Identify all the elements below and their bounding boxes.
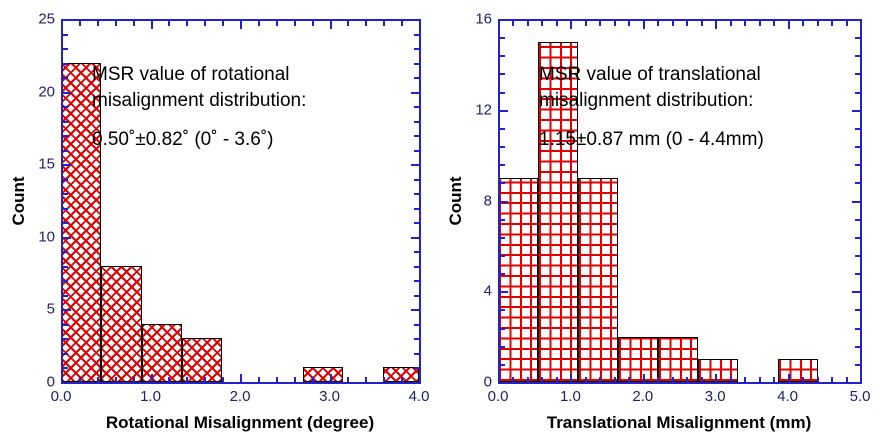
y-axis-minor-tick (62, 48, 68, 50)
histogram-bar (658, 337, 698, 382)
y-axis-minor-tick (499, 73, 505, 75)
x-axis-minor-tick-top (773, 20, 775, 26)
x-axis-minor-tick (383, 377, 385, 383)
x-axis-minor-tick-top (97, 20, 99, 26)
y-axis-minor-tick (62, 77, 68, 79)
x-axis-minor-tick (672, 377, 674, 383)
histogram-bar (778, 359, 818, 382)
x-axis-minor-tick (556, 377, 558, 383)
y-axis-major-tick (62, 237, 71, 239)
x-axis-minor-tick (744, 377, 746, 383)
y-axis-major-tick-right (852, 19, 861, 21)
x-axis-minor-tick-top (383, 20, 385, 26)
annotation-line-1: MSR value of translational (539, 62, 764, 88)
x-axis-major-tick (788, 374, 790, 383)
y-axis-title-translational: Count (446, 176, 466, 225)
y-axis-minor-tick (62, 179, 68, 181)
y-axis-minor-tick-right (414, 353, 420, 355)
histogram-bar (498, 178, 538, 382)
x-axis-minor-tick-top (628, 20, 630, 26)
y-axis-major-tick-right (852, 110, 861, 112)
y-axis-minor-tick (499, 92, 505, 94)
y-axis-minor-tick-right (414, 106, 420, 108)
x-axis-minor-tick (512, 377, 514, 383)
y-axis-minor-tick-right (855, 128, 861, 130)
y-axis-minor-tick-right (855, 219, 861, 221)
x-axis-major-tick-top (240, 20, 242, 29)
x-axis-minor-tick (657, 377, 659, 383)
x-axis-minor-tick-top (701, 20, 703, 26)
y-axis-minor-tick-right (855, 146, 861, 148)
y-axis-major-tick (62, 92, 71, 94)
y-axis-minor-tick-right (414, 251, 420, 253)
x-axis-major-tick (570, 374, 572, 383)
y-axis-minor-tick-right (414, 179, 420, 181)
y-axis-minor-tick-right (855, 92, 861, 94)
x-axis-minor-tick (817, 377, 819, 383)
y-axis-tick-label: 12 (456, 102, 492, 117)
x-axis-minor-tick-top (347, 20, 349, 26)
x-axis-tick-label: 4.0 (777, 389, 798, 404)
x-axis-minor-tick-top (686, 20, 688, 26)
x-axis-line-bottom (498, 382, 862, 384)
x-axis-title-rotational: Rotational Misalignment (degree) (106, 413, 374, 433)
y-axis-major-tick-right (852, 291, 861, 293)
y-axis-tick-label: 20 (19, 84, 55, 99)
x-axis-tick-label: 0.0 (51, 389, 72, 404)
y-axis-minor-tick-right (855, 182, 861, 184)
x-axis-minor-tick (831, 377, 833, 383)
y-axis-minor-tick (499, 273, 505, 275)
x-axis-minor-tick (759, 377, 761, 383)
x-axis-minor-tick-top (759, 20, 761, 26)
y-axis-minor-tick (499, 55, 505, 57)
x-axis-minor-tick (258, 377, 260, 383)
y-axis-minor-tick (499, 128, 505, 130)
x-axis-minor-tick-top (817, 20, 819, 26)
y-axis-title-rotational: Count (9, 176, 29, 225)
y-axis-minor-tick (499, 182, 505, 184)
y-axis-tick-label: 0 (456, 375, 492, 390)
panel-translational-misalignment: 0.01.02.03.04.05.00481216 Translational … (442, 0, 884, 440)
x-axis-major-tick (643, 374, 645, 383)
y-axis-minor-tick (499, 146, 505, 148)
x-axis-minor-tick-top (585, 20, 587, 26)
x-axis-minor-tick (276, 377, 278, 383)
x-axis-minor-tick-top (846, 20, 848, 26)
x-axis-major-tick-top (643, 20, 645, 29)
y-axis-minor-tick (62, 338, 68, 340)
x-axis-minor-tick (133, 377, 135, 383)
y-axis-major-tick-right (411, 92, 420, 94)
histogram-bar (101, 266, 141, 382)
x-axis-minor-tick (686, 377, 688, 383)
y-axis-minor-tick (62, 208, 68, 210)
y-axis-minor-tick (499, 37, 505, 39)
x-axis-line-top (498, 19, 862, 21)
x-axis-minor-tick (599, 377, 601, 383)
y-axis-minor-tick (499, 237, 505, 239)
x-axis-major-tick-top (61, 20, 63, 29)
y-axis-major-tick-right (411, 309, 420, 311)
y-axis-major-tick-right (411, 19, 420, 21)
y-axis-minor-tick-right (855, 364, 861, 366)
y-axis-minor-tick (62, 266, 68, 268)
y-axis-tick-label: 4 (456, 284, 492, 299)
y-axis-minor-tick (499, 309, 505, 311)
x-axis-tick-label: 0.0 (488, 389, 509, 404)
x-axis-minor-tick-top (744, 20, 746, 26)
x-axis-title-translational: Translational Misalignment (mm) (547, 413, 812, 433)
y-axis-minor-tick-right (414, 150, 420, 152)
x-axis-minor-tick-top (222, 20, 224, 26)
y-axis-major-tick (499, 19, 508, 21)
y-axis-minor-tick-right (414, 266, 420, 268)
x-axis-minor-tick-top (115, 20, 117, 26)
y-axis-minor-tick (499, 328, 505, 330)
y-axis-minor-tick (62, 63, 68, 65)
y-axis-minor-tick (62, 251, 68, 253)
x-axis-minor-tick-top (365, 20, 367, 26)
x-axis-minor-tick (79, 377, 81, 383)
x-axis-minor-tick-top (312, 20, 314, 26)
x-axis-minor-tick-top (204, 20, 206, 26)
y-axis-major-tick-right (852, 382, 861, 384)
x-axis-minor-tick (294, 377, 296, 383)
y-axis-minor-tick-right (855, 55, 861, 57)
x-axis-minor-tick (773, 377, 775, 383)
x-axis-minor-tick (115, 377, 117, 383)
y-axis-minor-tick-right (414, 280, 420, 282)
annotation-translational: MSR value of translational misalignment … (539, 62, 764, 153)
x-axis-major-tick-top (419, 20, 421, 29)
y-axis-major-tick (499, 110, 508, 112)
y-axis-minor-tick-right (855, 346, 861, 348)
y-axis-minor-tick (62, 193, 68, 195)
x-axis-minor-tick (527, 377, 529, 383)
y-axis-minor-tick (62, 353, 68, 355)
y-axis-major-tick (499, 291, 508, 293)
x-axis-tick-label: 2.0 (632, 389, 653, 404)
annotation-line-1: MSR value of rotational (92, 62, 306, 88)
x-axis-minor-tick-top (541, 20, 543, 26)
x-axis-minor-tick-top (401, 20, 403, 26)
x-axis-minor-tick-top (527, 20, 529, 26)
y-axis-tick-label: 16 (456, 12, 492, 27)
y-axis-major-tick (62, 382, 71, 384)
y-axis-minor-tick-right (855, 328, 861, 330)
y-axis-minor-tick-right (855, 237, 861, 239)
x-axis-minor-tick-top (258, 20, 260, 26)
y-axis-major-tick-right (411, 382, 420, 384)
y-axis-line-left (61, 19, 63, 384)
y-axis-minor-tick-right (414, 77, 420, 79)
x-axis-major-tick-top (570, 20, 572, 29)
y-axis-major-tick (499, 382, 508, 384)
y-axis-minor-tick-right (414, 338, 420, 340)
y-axis-minor-tick-right (414, 135, 420, 137)
annotation-statistic: 0.50˚±0.82˚ (0˚ - 3.6˚) (92, 127, 306, 153)
y-axis-minor-tick-right (414, 295, 420, 297)
x-axis-minor-tick (730, 377, 732, 383)
histogram-bar (618, 337, 658, 382)
y-axis-tick-label: 0 (19, 375, 55, 390)
x-axis-minor-tick (97, 377, 99, 383)
x-axis-minor-tick-top (657, 20, 659, 26)
x-axis-major-tick (151, 374, 153, 383)
y-axis-minor-tick (62, 150, 68, 152)
x-axis-minor-tick-top (276, 20, 278, 26)
x-axis-tick-label: 3.0 (319, 389, 340, 404)
y-axis-minor-tick (499, 164, 505, 166)
x-axis-minor-tick (401, 377, 403, 383)
x-axis-minor-tick-top (294, 20, 296, 26)
panel-rotational-misalignment: 0.01.02.03.04.00510152025 Rotational Mis… (0, 0, 442, 440)
y-axis-minor-tick (62, 367, 68, 369)
annotation-line-2: misalignment distribution: (539, 88, 764, 114)
y-axis-minor-tick-right (855, 255, 861, 257)
y-axis-major-tick (62, 309, 71, 311)
x-axis-major-tick-top (498, 20, 500, 29)
y-axis-minor-tick-right (414, 34, 420, 36)
y-axis-minor-tick (499, 364, 505, 366)
x-axis-minor-tick (585, 377, 587, 383)
annotation-rotational: MSR value of rotational misalignment dis… (92, 62, 306, 153)
x-axis-major-tick-top (860, 20, 862, 29)
y-axis-minor-tick (62, 106, 68, 108)
y-axis-minor-tick-right (414, 222, 420, 224)
x-axis-minor-tick (846, 377, 848, 383)
x-axis-minor-tick-top (599, 20, 601, 26)
x-axis-minor-tick (168, 377, 170, 383)
x-axis-major-tick-top (330, 20, 332, 29)
x-axis-tick-label: 5.0 (850, 389, 871, 404)
y-axis-tick-label: 25 (19, 12, 55, 27)
y-axis-minor-tick (62, 34, 68, 36)
x-axis-major-tick (715, 374, 717, 383)
y-axis-minor-tick-right (855, 37, 861, 39)
x-axis-minor-tick-top (614, 20, 616, 26)
y-axis-minor-tick-right (414, 193, 420, 195)
y-axis-minor-tick-right (414, 367, 420, 369)
y-axis-major-tick (499, 201, 508, 203)
y-axis-minor-tick (62, 295, 68, 297)
histogram-bar (578, 178, 618, 382)
x-axis-major-tick-top (715, 20, 717, 29)
x-axis-tick-label: 3.0 (705, 389, 726, 404)
y-axis-minor-tick (62, 135, 68, 137)
x-axis-major-tick (240, 374, 242, 383)
x-axis-tick-label: 1.0 (140, 389, 161, 404)
x-axis-tick-label: 4.0 (409, 389, 430, 404)
annotation-spacer (539, 114, 764, 127)
y-axis-minor-tick (62, 280, 68, 282)
x-axis-minor-tick (204, 377, 206, 383)
x-axis-major-tick (330, 374, 332, 383)
x-axis-minor-tick (365, 377, 367, 383)
annotation-line-2: misalignment distribution: (92, 88, 306, 114)
x-axis-minor-tick-top (730, 20, 732, 26)
x-axis-minor-tick (347, 377, 349, 383)
x-axis-minor-tick-top (556, 20, 558, 26)
y-axis-tick-label: 10 (19, 229, 55, 244)
y-axis-minor-tick-right (855, 273, 861, 275)
y-axis-major-tick (62, 19, 71, 21)
y-axis-minor-tick (499, 346, 505, 348)
y-axis-minor-tick-right (855, 73, 861, 75)
histogram-bar (142, 324, 182, 382)
x-axis-minor-tick (541, 377, 543, 383)
y-axis-minor-tick (62, 222, 68, 224)
y-axis-minor-tick-right (414, 324, 420, 326)
x-axis-minor-tick-top (831, 20, 833, 26)
y-axis-minor-tick (499, 219, 505, 221)
y-axis-minor-tick-right (414, 208, 420, 210)
histogram-bar (182, 338, 222, 382)
y-axis-tick-label: 5 (19, 302, 55, 317)
x-axis-minor-tick (186, 377, 188, 383)
x-axis-tick-label: 1.0 (560, 389, 581, 404)
y-axis-line-right (419, 19, 421, 384)
y-axis-minor-tick-right (414, 48, 420, 50)
x-axis-minor-tick-top (133, 20, 135, 26)
x-axis-minor-tick (701, 377, 703, 383)
y-axis-minor-tick (499, 255, 505, 257)
y-axis-major-tick-right (411, 237, 420, 239)
x-axis-minor-tick (614, 377, 616, 383)
x-axis-minor-tick-top (672, 20, 674, 26)
x-axis-minor-tick-top (186, 20, 188, 26)
x-axis-minor-tick-top (168, 20, 170, 26)
figure-histograms: 0.01.02.03.04.00510152025 Rotational Mis… (0, 0, 884, 440)
histogram-bar (303, 367, 343, 382)
y-axis-minor-tick-right (855, 309, 861, 311)
x-axis-minor-tick-top (512, 20, 514, 26)
y-axis-major-tick-right (411, 164, 420, 166)
x-axis-minor-tick (802, 377, 804, 383)
y-axis-minor-tick-right (855, 164, 861, 166)
annotation-statistic: 1.15±0.87 mm (0 - 4.4mm) (539, 127, 764, 153)
x-axis-minor-tick (222, 377, 224, 383)
y-axis-major-tick-right (852, 201, 861, 203)
x-axis-major-tick-top (151, 20, 153, 29)
x-axis-minor-tick (312, 377, 314, 383)
x-axis-major-tick-top (788, 20, 790, 29)
y-axis-minor-tick (62, 324, 68, 326)
y-axis-tick-label: 15 (19, 157, 55, 172)
y-axis-minor-tick (62, 121, 68, 123)
y-axis-minor-tick-right (414, 63, 420, 65)
x-axis-minor-tick (628, 377, 630, 383)
y-axis-minor-tick-right (414, 121, 420, 123)
x-axis-tick-label: 2.0 (230, 389, 251, 404)
y-axis-major-tick (62, 164, 71, 166)
x-axis-minor-tick-top (802, 20, 804, 26)
x-axis-minor-tick-top (79, 20, 81, 26)
annotation-spacer (92, 114, 306, 127)
